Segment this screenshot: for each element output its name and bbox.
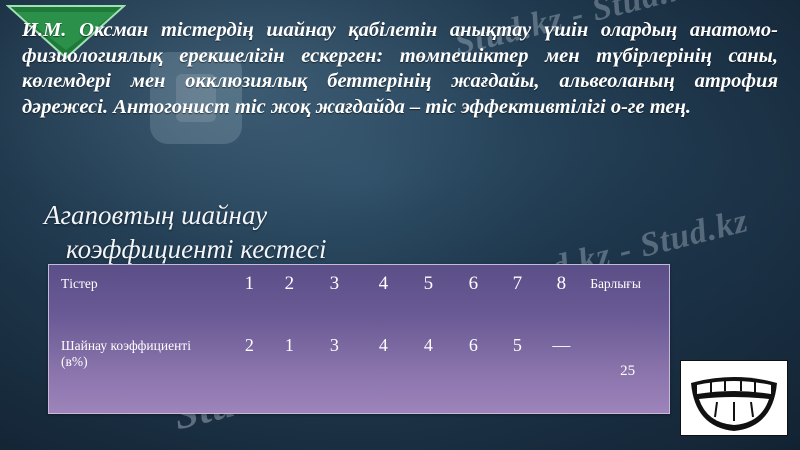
tooth-number-1: 1 <box>229 273 269 295</box>
row-header-coefficient-unit: (в%) <box>61 354 229 370</box>
table-row: Тістер 12345678 Барлығы <box>49 265 669 327</box>
row-header-teeth: Тістер <box>49 265 229 327</box>
table-row: Шайнау коэффициенті (в%) 2134465— 25 <box>49 327 669 413</box>
body-paragraph: И.М. Оксман тістердің шайнау қабілетін а… <box>22 18 778 120</box>
total-column-header: Барлығы <box>586 265 669 327</box>
tooth-number-8: 8 <box>537 273 585 295</box>
tooth-number-2: 2 <box>269 273 309 295</box>
smile-icon <box>681 361 787 435</box>
tooth-number-7: 7 <box>497 273 537 295</box>
coefficient-6: 6 <box>449 335 497 356</box>
total-value: 25 <box>586 327 669 413</box>
slide-heading: Агаповтың шайнау коэффициенті кестесі <box>44 198 604 266</box>
tooth-number-4: 4 <box>359 273 407 295</box>
table: Тістер 12345678 Барлығы Шайнау коэффицие… <box>49 265 669 413</box>
slide-canvas: Stud.kz - Stud.kz Stud.kz - Stud.kz Stud… <box>0 0 800 450</box>
tooth-number-6: 6 <box>449 273 497 295</box>
coefficient-1: 2 <box>229 335 269 356</box>
coefficient-4: 4 <box>359 335 407 356</box>
slide-heading-line-2: коэффициенті кестесі <box>66 232 604 266</box>
slide-heading-line-1: Агаповтың шайнау <box>44 200 267 230</box>
coefficient-8: — <box>537 335 585 356</box>
tooth-number-cells: 12345678 <box>229 265 586 327</box>
coefficient-7: 5 <box>497 335 537 356</box>
coefficient-3: 3 <box>309 335 359 356</box>
tooth-number-5: 5 <box>407 273 449 295</box>
coefficient-2: 1 <box>269 335 309 356</box>
coefficient-5: 4 <box>407 335 449 356</box>
smile-teeth-image <box>680 360 788 436</box>
coefficient-cells: 2134465— <box>229 327 586 413</box>
chewing-coefficient-table: Тістер 12345678 Барлығы Шайнау коэффицие… <box>48 264 670 414</box>
row-header-coefficient: Шайнау коэффициенті (в%) <box>49 327 229 413</box>
row-header-coefficient-main: Шайнау коэффициенті <box>61 338 191 353</box>
tooth-number-3: 3 <box>309 273 359 295</box>
